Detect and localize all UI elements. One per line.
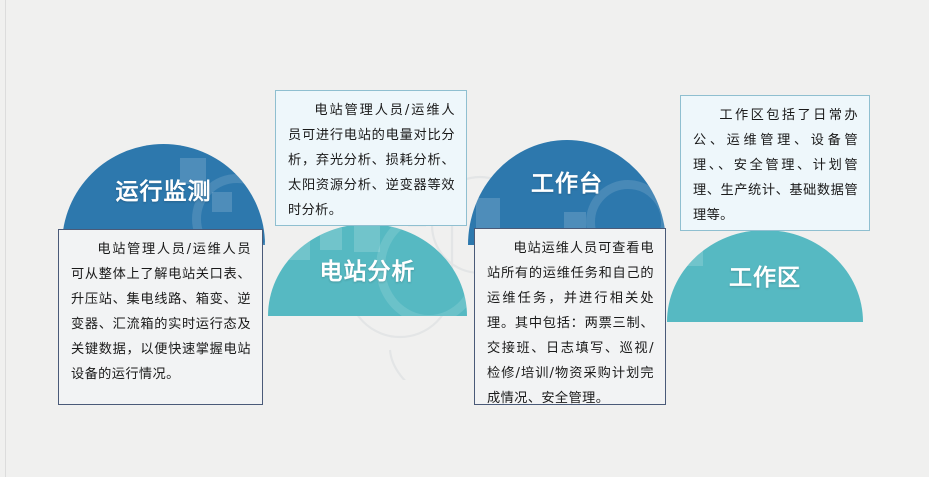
dome-label-yunxing-jiance: 运行监测 <box>62 172 265 206</box>
dome-shape-dianzhan-fenxi: 电站分析 <box>268 224 467 316</box>
text-card-dianzhan-fenxi: 电站管理人员/运维人员可进行电站的电量对比分析，弃光分析、损耗分析、太阳资源分析… <box>275 90 467 226</box>
dome-decor-square <box>320 228 342 250</box>
dome-label-gongzuoqu: 工作区 <box>667 258 863 292</box>
dome-decor-square <box>354 226 380 252</box>
card-body-gongzuoqu: 工作区包括了日常办公、运维管理、设备管理、、安全管理、计划管理、生产统计、基础数… <box>693 103 858 228</box>
slide-left-rule <box>5 0 6 477</box>
dome-label-dianzhan-fenxi: 电站分析 <box>268 252 467 286</box>
text-card-gongzuoqu: 工作区包括了日常办公、运维管理、设备管理、、安全管理、计划管理、生产统计、基础数… <box>680 95 870 231</box>
dome-shape-gongzuoqu: 工作区 <box>667 230 863 322</box>
text-card-yunxing-jiance: 电站管理人员/运维人员可从整体上了解电站关口表、升压站、集电线路、箱变、逆变器、… <box>58 229 263 405</box>
card-body-dianzhan-fenxi: 电站管理人员/运维人员可进行电站的电量对比分析，弃光分析、损耗分析、太阳资源分析… <box>288 98 455 223</box>
slide-canvas: 运行监测 电站分析 工作台 工作区 电站管理人员/运维人员可从整体上了解电站关口… <box>0 0 929 477</box>
text-card-gongzuotai: 电站运维人员可查看电站所有的运维任务和自己的运维任务，并进行相关处理。其中包括：… <box>474 228 666 405</box>
dome-label-gongzuotai: 工作台 <box>468 164 666 198</box>
card-body-yunxing-jiance: 电站管理人员/运维人员可从整体上了解电站关口表、升压站、集电线路、箱变、逆变器、… <box>71 237 251 387</box>
card-body-gongzuotai: 电站运维人员可查看电站所有的运维任务和自己的运维任务，并进行相关处理。其中包括：… <box>487 236 654 411</box>
